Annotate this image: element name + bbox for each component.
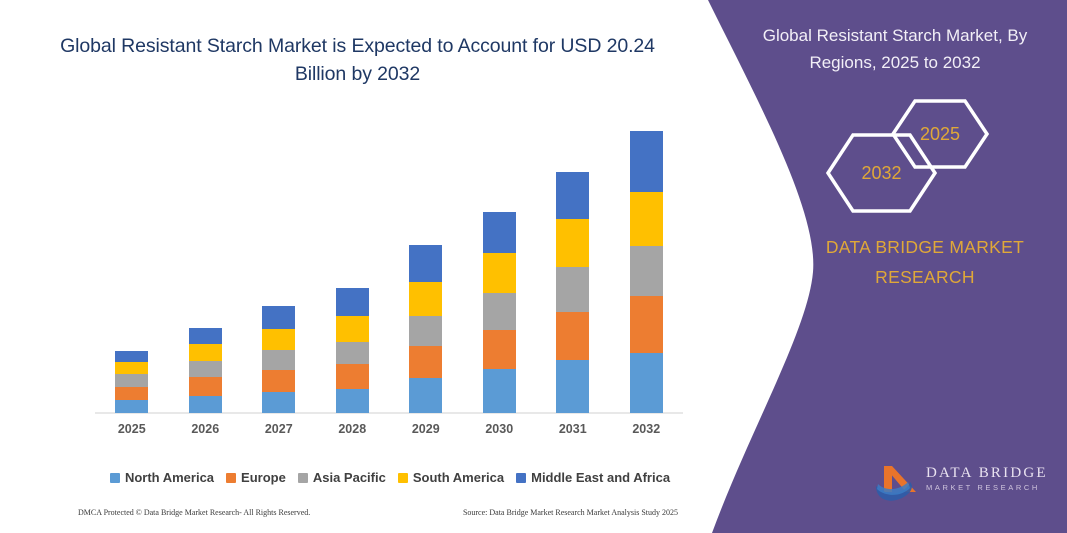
legend-swatch-icon (298, 473, 308, 483)
brand-panel-title: Global Resistant Starch Market, By Regio… (745, 22, 1045, 76)
bar-segment-north-america (630, 353, 663, 413)
bar-segment-middle-east-and-africa (483, 212, 516, 253)
logo-mark-icon (872, 462, 922, 504)
bar-segment-asia-pacific (630, 246, 663, 296)
bar-segment-europe (189, 377, 222, 395)
bar-segment-north-america (189, 396, 222, 413)
stacked-bar-group (95, 120, 683, 413)
bar-segment-south-america (115, 362, 148, 374)
x-axis-label-2026: 2026 (169, 422, 243, 436)
bar-segment-middle-east-and-africa (262, 306, 295, 328)
stacked-bar (336, 288, 369, 413)
hexagon-group: 2032 2025 (815, 98, 990, 208)
bar-segment-asia-pacific (409, 316, 442, 346)
bar-segment-middle-east-and-africa (336, 288, 369, 316)
bar-segment-north-america (115, 400, 148, 413)
x-axis-label-2028: 2028 (316, 422, 390, 436)
bar-segment-north-america (409, 378, 442, 413)
bar-column-2029 (389, 120, 463, 413)
legend-label: Asia Pacific (313, 470, 386, 485)
footer-source: Source: Data Bridge Market Research Mark… (437, 508, 678, 517)
legend-label: South America (413, 470, 504, 485)
bar-column-2028 (316, 120, 390, 413)
company-name: DATA BRIDGE MARKET RESEARCH (790, 232, 1060, 292)
data-bridge-logo: DATA BRIDGE MARKET RESEARCH (872, 462, 1047, 504)
bar-segment-middle-east-and-africa (409, 245, 442, 282)
slide-canvas: Global Resistant Starch Market is Expect… (0, 0, 1067, 533)
bar-segment-asia-pacific (336, 342, 369, 364)
bar-segment-asia-pacific (189, 361, 222, 377)
stacked-bar (409, 245, 442, 413)
stacked-bar (189, 328, 222, 413)
bar-segment-asia-pacific (115, 374, 148, 386)
logo-wordmark: DATA BRIDGE MARKET RESEARCH (926, 464, 1051, 494)
legend-label: North America (125, 470, 214, 485)
legend-swatch-icon (398, 473, 408, 483)
bar-column-2031 (536, 120, 610, 413)
logo-line-1: DATA BRIDGE (926, 464, 1051, 482)
bar-segment-north-america (483, 369, 516, 413)
legend-item-south-america[interactable]: South America (398, 470, 504, 485)
stacked-bar (483, 212, 516, 413)
chart-title: Global Resistant Starch Market is Expect… (60, 32, 655, 88)
bar-column-2032 (610, 120, 684, 413)
stacked-bar (115, 351, 148, 413)
bar-segment-europe (115, 387, 148, 400)
legend-item-north-america[interactable]: North America (110, 470, 214, 485)
bar-segment-europe (262, 370, 295, 391)
legend-label: Europe (241, 470, 286, 485)
bar-segment-europe (483, 330, 516, 370)
bar-segment-south-america (336, 316, 369, 341)
bar-segment-europe (556, 312, 589, 361)
bar-segment-asia-pacific (262, 350, 295, 370)
legend-swatch-icon (226, 473, 236, 483)
x-axis-label-2032: 2032 (610, 422, 684, 436)
bar-column-2027 (242, 120, 316, 413)
stacked-bar (556, 172, 589, 413)
bar-segment-south-america (189, 344, 222, 361)
logo-line-2: MARKET RESEARCH (926, 482, 1051, 494)
x-axis-label-2031: 2031 (536, 422, 610, 436)
bar-segment-middle-east-and-africa (630, 131, 663, 193)
bar-segment-asia-pacific (556, 267, 589, 312)
legend-item-asia-pacific[interactable]: Asia Pacific (298, 470, 386, 485)
legend-swatch-icon (516, 473, 526, 483)
bar-segment-north-america (262, 392, 295, 413)
bar-segment-europe (409, 346, 442, 379)
x-axis-label-2029: 2029 (389, 422, 463, 436)
stacked-bar (630, 131, 663, 413)
bar-segment-south-america (556, 219, 589, 267)
bar-segment-south-america (409, 282, 442, 315)
legend-item-europe[interactable]: Europe (226, 470, 286, 485)
legend-swatch-icon (110, 473, 120, 483)
bar-segment-south-america (630, 192, 663, 246)
bar-segment-middle-east-and-africa (556, 172, 589, 219)
legend-label: Middle East and Africa (531, 470, 670, 485)
bar-segment-middle-east-and-africa (189, 328, 222, 344)
stacked-bar (262, 306, 295, 413)
bar-segment-south-america (262, 329, 295, 350)
bar-segment-europe (630, 296, 663, 353)
bar-segment-middle-east-and-africa (115, 351, 148, 362)
hexagon-2025: 2025 (890, 98, 990, 170)
footer-copyright: DMCA Protected © Data Bridge Market Rese… (78, 508, 310, 517)
bar-segment-north-america (336, 389, 369, 413)
x-axis-label-2025: 2025 (95, 422, 169, 436)
x-axis-labels: 20252026202720282029203020312032 (95, 422, 683, 436)
legend-item-middle-east-and-africa[interactable]: Middle East and Africa (516, 470, 670, 485)
x-axis-label-2027: 2027 (242, 422, 316, 436)
bar-segment-north-america (556, 360, 589, 413)
chart-panel: Global Resistant Starch Market is Expect… (0, 0, 712, 533)
bar-segment-europe (336, 364, 369, 388)
bar-segment-south-america (483, 253, 516, 294)
bar-column-2025 (95, 120, 169, 413)
bar-column-2030 (463, 120, 537, 413)
footer: DMCA Protected © Data Bridge Market Rese… (78, 508, 678, 517)
bar-column-2026 (169, 120, 243, 413)
hexagon-2025-label: 2025 (890, 98, 990, 170)
bar-segment-asia-pacific (483, 293, 516, 330)
x-axis-label-2030: 2030 (463, 422, 537, 436)
chart-legend: North AmericaEuropeAsia PacificSouth Ame… (95, 470, 685, 485)
